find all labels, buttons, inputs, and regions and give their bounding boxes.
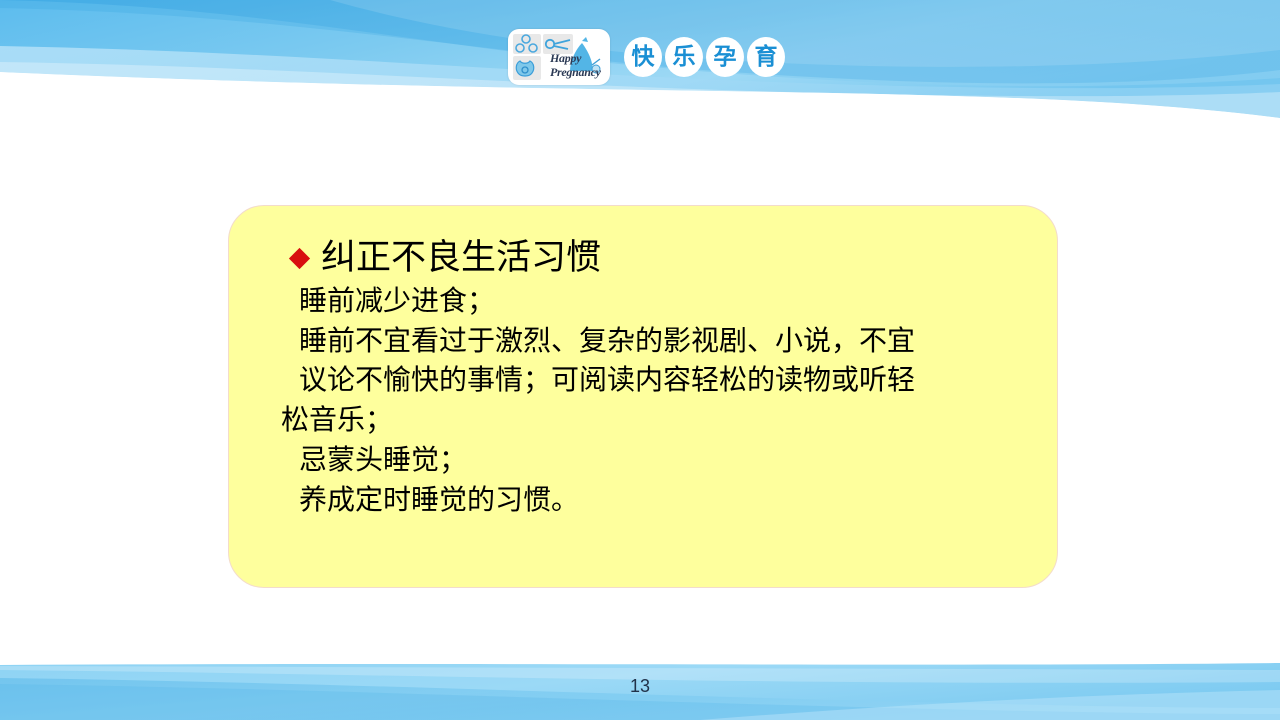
brand-title-chinese: 快 乐 孕 育 xyxy=(624,37,785,77)
happy-pregnancy-badge: Happy Pregnancy xyxy=(508,29,610,85)
red-diamond-bullet-icon xyxy=(289,248,310,269)
content-line-1: 睡前减少进食； xyxy=(259,281,1027,321)
content-line-6: 养成定时睡觉的习惯。 xyxy=(259,480,1027,520)
brand-char-2: 乐 xyxy=(665,37,703,77)
logo-pregnancy-text: Pregnancy xyxy=(550,65,601,80)
content-heading: 纠正不良生活习惯 xyxy=(321,240,601,277)
brand-char-1: 快 xyxy=(624,37,662,77)
content-line-4: 松音乐； xyxy=(259,400,1027,440)
content-body: 睡前减少进食； 睡前不宜看过于激烈、复杂的影视剧、小说，不宜 议论不愉快的事情；… xyxy=(259,281,1027,520)
content-card: 纠正不良生活习惯 睡前减少进食； 睡前不宜看过于激烈、复杂的影视剧、小说，不宜 … xyxy=(228,205,1058,588)
content-heading-row: 纠正不良生活习惯 xyxy=(292,240,1027,277)
content-line-5: 忌蒙头睡觉； xyxy=(259,440,1027,480)
brand-char-4: 育 xyxy=(747,37,785,77)
brand-char-3: 孕 xyxy=(706,37,744,77)
page-number: 13 xyxy=(0,676,1280,697)
baby-bib-icon xyxy=(516,61,533,76)
content-line-2: 睡前不宜看过于激烈、复杂的影视剧、小说，不宜 xyxy=(259,321,1027,361)
logo-happy-text: Happy xyxy=(550,51,581,66)
brand-logo-group: Happy Pregnancy 快 乐 孕 育 xyxy=(508,28,785,86)
slide-canvas: Happy Pregnancy 快 乐 孕 育 纠正不良生活习惯 睡前减少进食；… xyxy=(0,0,1280,720)
content-line-3: 议论不愉快的事情；可阅读内容轻松的读物或听轻 xyxy=(259,360,1027,400)
